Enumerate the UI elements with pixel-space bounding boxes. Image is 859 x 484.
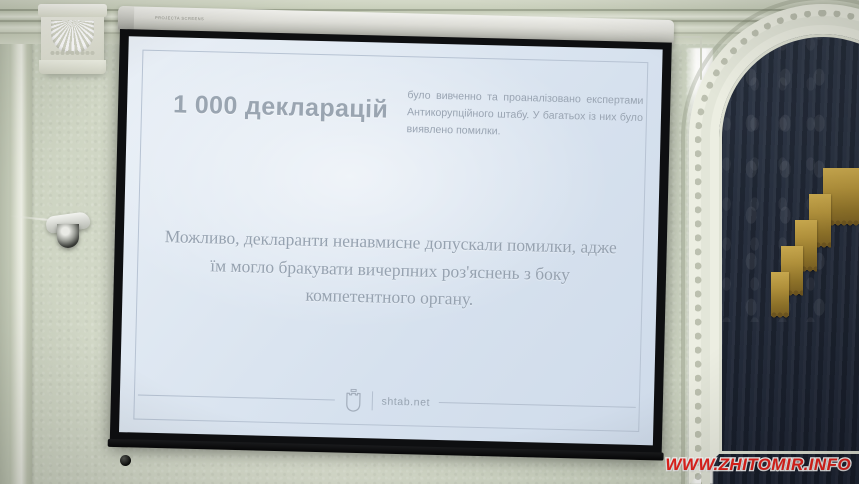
gold-pelmet	[771, 168, 859, 318]
footer-rule-left	[138, 395, 335, 401]
shtab-shield-icon	[343, 389, 363, 412]
corbel-cap	[38, 4, 107, 17]
footer-site-url: shtab.net	[381, 395, 430, 408]
shell-bead-edge	[50, 50, 95, 57]
slide-body-quote: Можливо, декларанти ненавмисне допускали…	[158, 223, 622, 317]
plaster-shell-corbel	[41, 4, 104, 74]
ceiling-dome-camera	[57, 224, 79, 248]
photo-scene: PROJECTA SCREENS 1 000 декларацій було в…	[0, 0, 859, 484]
shell-relief	[51, 20, 94, 54]
corbel-foot	[39, 60, 106, 74]
footer-divider	[371, 391, 372, 410]
presentation-slide: 1 000 декларацій було вивченно та проана…	[119, 36, 663, 445]
camera-lens-icon	[120, 455, 131, 466]
slide-headline: 1 000 декларацій	[173, 91, 402, 123]
slide-lede-paragraph: було вивченно та проаналізовано експерта…	[406, 87, 643, 144]
site-watermark: WWW.ZHITOMIR.INFO	[665, 455, 851, 475]
projection-screen[interactable]: 1 000 декларацій було вивченно та проана…	[110, 29, 672, 457]
footer-rule-right	[439, 402, 636, 408]
wall-pilaster	[10, 0, 32, 484]
ceiling-cable-drop	[700, 36, 702, 80]
